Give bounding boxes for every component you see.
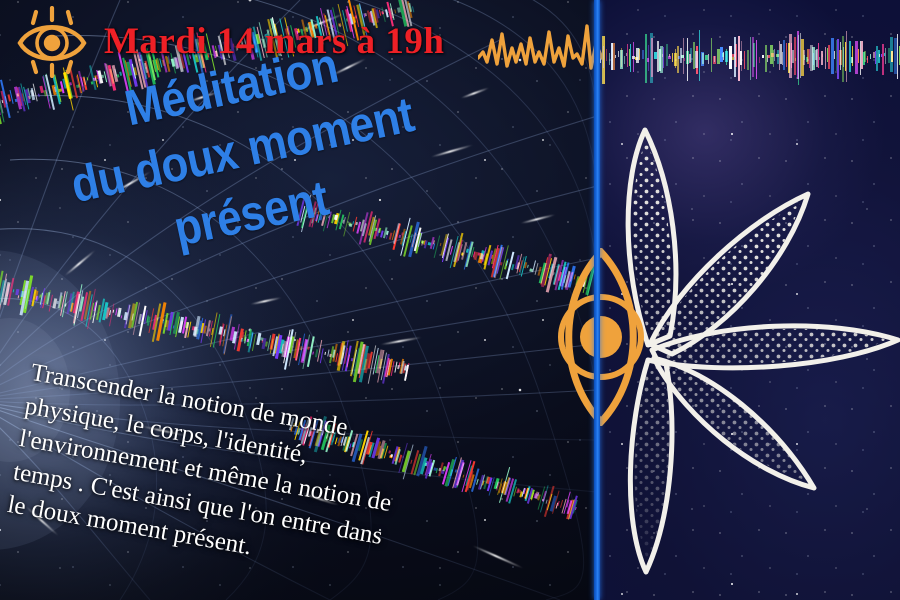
spectrum-bar bbox=[635, 57, 638, 60]
spectrum-bar bbox=[717, 49, 720, 64]
eye-with-rays-icon bbox=[14, 6, 90, 78]
spectrum-bar bbox=[672, 53, 673, 63]
spectrum-bar bbox=[879, 54, 880, 58]
spectrum-bar bbox=[702, 53, 704, 64]
spectrum-bar bbox=[618, 51, 619, 56]
spectrum-bar bbox=[674, 53, 677, 67]
spectrum-bar bbox=[669, 54, 670, 57]
spectrum-bar bbox=[662, 54, 663, 57]
spectrum-bar bbox=[753, 43, 755, 67]
spectrum-bar bbox=[813, 53, 814, 64]
spectrum-bar bbox=[713, 56, 716, 64]
spectrum-bar bbox=[626, 53, 627, 56]
spectrum-bar bbox=[627, 44, 628, 67]
spectrum-bar bbox=[807, 49, 809, 64]
spectrum-bar bbox=[701, 52, 704, 66]
spectrum-bar bbox=[885, 48, 886, 64]
spectrum-bar bbox=[740, 51, 742, 65]
spectrum-bar bbox=[861, 41, 863, 70]
spectrum-bar bbox=[899, 46, 900, 65]
spectrum-bar bbox=[843, 47, 844, 66]
spectrum-bar bbox=[726, 49, 727, 65]
spectrum-bar bbox=[812, 47, 815, 70]
spectrum-bar bbox=[690, 48, 692, 63]
spectrum-bar bbox=[732, 54, 735, 57]
spectrum-bar bbox=[891, 51, 893, 62]
spectrum-bar bbox=[786, 43, 787, 67]
spectrum-bar bbox=[851, 57, 853, 63]
spectrum-bar bbox=[629, 49, 630, 66]
spectrum-bar bbox=[720, 47, 723, 62]
spectrum-bar bbox=[632, 56, 635, 59]
spectrum-bar bbox=[864, 51, 866, 62]
spectrum-bar bbox=[744, 51, 745, 70]
spectrum-bar bbox=[621, 48, 622, 67]
spectrum-bar bbox=[873, 52, 875, 58]
spectrum-bar bbox=[686, 51, 689, 64]
spectrum-bar bbox=[818, 43, 819, 68]
spectrum-bar bbox=[695, 51, 698, 68]
spectrum-bar bbox=[666, 44, 668, 66]
spectrum-bar bbox=[693, 42, 695, 69]
spectrum-bar bbox=[858, 49, 859, 63]
spectrum-bar bbox=[767, 55, 768, 62]
spectrum-bar bbox=[615, 55, 616, 59]
spectrum-bar bbox=[852, 46, 853, 67]
spectrum-bar bbox=[729, 46, 732, 68]
spectrum-bar bbox=[777, 50, 779, 63]
spectrum-bar bbox=[834, 51, 835, 59]
spectrum-bar bbox=[705, 55, 708, 60]
spectrum-bar bbox=[725, 51, 728, 62]
spectrum-bar bbox=[825, 47, 826, 69]
spectrum-bar bbox=[612, 43, 615, 71]
spectrum-bar bbox=[819, 57, 820, 60]
spectrum-bar bbox=[774, 49, 775, 61]
spectrum-bar bbox=[638, 48, 640, 60]
spectrum-bar bbox=[782, 52, 783, 65]
spectrum-bar bbox=[773, 50, 774, 68]
spectrum-bar bbox=[747, 50, 749, 70]
spectrum-bar bbox=[803, 50, 805, 65]
spectrum-bar bbox=[603, 46, 604, 68]
spectrum-bar bbox=[863, 52, 865, 65]
spectrum-bar bbox=[792, 50, 794, 62]
spectrum-bar bbox=[681, 55, 684, 58]
spectrum-bar bbox=[668, 56, 671, 59]
spectrum-bar bbox=[878, 50, 880, 64]
spectrum-bar bbox=[783, 40, 785, 71]
spectrum-bar bbox=[875, 51, 876, 64]
spectrum-bar bbox=[684, 58, 685, 61]
spectrum-bar bbox=[840, 42, 841, 70]
spectrum-bar bbox=[839, 50, 842, 65]
spectrum-bar bbox=[809, 49, 810, 68]
spectrum-bar bbox=[771, 53, 774, 57]
spectrum-bar bbox=[780, 44, 782, 64]
spectrum-bar bbox=[714, 56, 715, 63]
spectrum-bar bbox=[836, 40, 837, 71]
spectrum-bar bbox=[731, 57, 734, 60]
spectrum-bar bbox=[828, 45, 830, 69]
spectrum-bar bbox=[768, 55, 770, 58]
spectrum-bar bbox=[795, 58, 796, 61]
spectrum-bar bbox=[606, 49, 607, 61]
spectrum-bar bbox=[663, 47, 664, 68]
vertical-blue-divider bbox=[594, 0, 600, 600]
spectrum-bar bbox=[881, 54, 882, 57]
spectrum-bar bbox=[680, 48, 682, 63]
spectrum-bar bbox=[870, 54, 871, 60]
spectrum-bar bbox=[648, 45, 649, 71]
spectrum-bar bbox=[779, 41, 780, 70]
spectrum-bar bbox=[884, 53, 885, 56]
spectrum-bar bbox=[822, 54, 823, 57]
spectrum-bar bbox=[609, 53, 610, 65]
spectrum-bar bbox=[827, 48, 828, 62]
spectrum-bar bbox=[821, 51, 823, 65]
meditation-poster: Mardi 14 mars à 19h Méditation du doux m… bbox=[0, 0, 900, 600]
spectrum-bar bbox=[723, 52, 724, 60]
spectrum-bar bbox=[689, 54, 691, 63]
spectrum-bar bbox=[675, 49, 676, 68]
spectrum-bar bbox=[654, 52, 657, 59]
spectrum-bar bbox=[639, 49, 640, 60]
spectrum-bar bbox=[620, 50, 623, 69]
spectrum-bar bbox=[722, 53, 724, 57]
audio-waveform-icon bbox=[478, 18, 602, 86]
spectrum-bar bbox=[647, 58, 649, 62]
spectrum-bar bbox=[804, 55, 805, 60]
spectrum-bar bbox=[776, 54, 779, 57]
third-eye-icon bbox=[540, 248, 662, 426]
spectrum-bar bbox=[759, 57, 760, 63]
spectrum-bar bbox=[770, 45, 773, 64]
spectrum-bar bbox=[888, 48, 890, 63]
spectrum-bar bbox=[708, 54, 709, 63]
spectrum-bar bbox=[735, 44, 737, 68]
spectrum-bar bbox=[815, 50, 817, 60]
spectrum-bar bbox=[806, 57, 808, 62]
spectrum-bar bbox=[816, 49, 818, 67]
spectrum-bar bbox=[624, 56, 625, 63]
spectrum-bar bbox=[741, 41, 742, 71]
spectrum-bar bbox=[642, 50, 644, 59]
spectrum-bar bbox=[636, 48, 639, 63]
spectrum-bar bbox=[678, 56, 680, 59]
spectrum-bar bbox=[845, 42, 846, 71]
spectrum-bar bbox=[890, 37, 893, 72]
spectrum-bar bbox=[791, 43, 792, 68]
spectrum-bar bbox=[867, 56, 868, 63]
spectrum-bar bbox=[611, 43, 613, 70]
spectrum-bar bbox=[762, 55, 764, 58]
